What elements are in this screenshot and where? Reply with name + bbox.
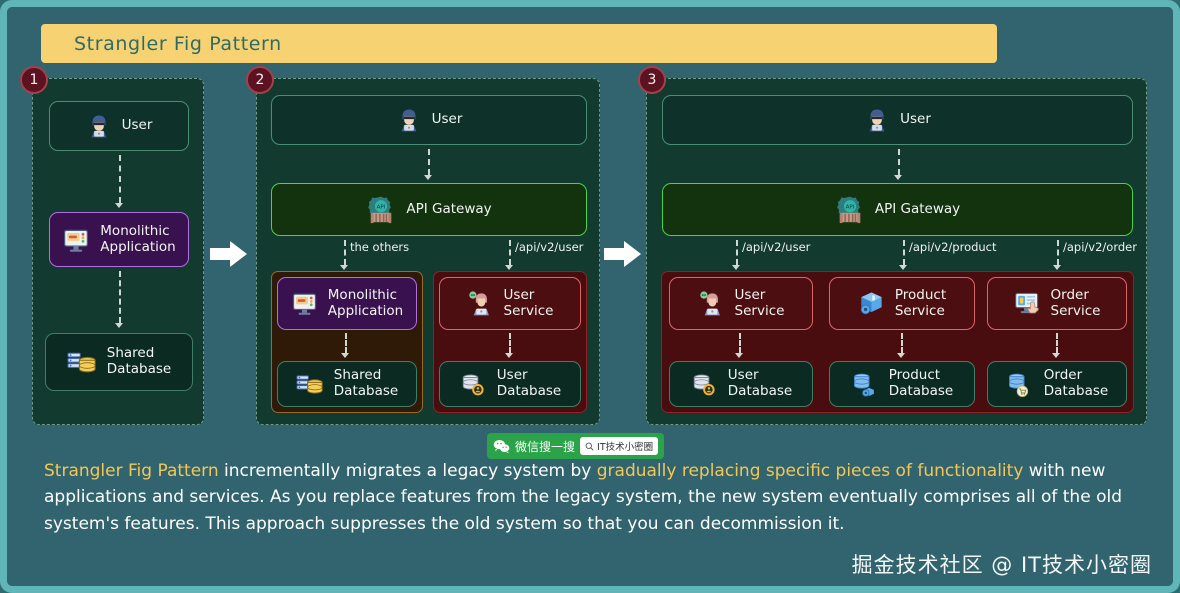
connector-arrowhead — [732, 265, 740, 270]
connector-arrowhead — [899, 265, 907, 270]
user-service-icon — [467, 290, 494, 317]
connector-arrowhead — [1053, 265, 1061, 270]
desc-plain-1: incrementally migrates a legacy system b… — [219, 461, 597, 481]
connector-arrowhead — [505, 353, 513, 358]
connector-user-to-monolith-1 — [119, 155, 121, 203]
connector-arrowhead — [894, 175, 902, 180]
node-label: User Database — [497, 368, 561, 400]
route-label-product: /api/v2/product — [909, 240, 997, 254]
node-user-service-2[interactable]: User Service — [439, 277, 581, 330]
connector-gateway-to-product-service-3 — [903, 240, 905, 265]
step-badge-3: 3 — [638, 66, 666, 94]
route-label-others: the others — [350, 240, 409, 254]
wechat-label: 微信搜一搜 — [515, 438, 575, 455]
node-user-1[interactable]: User — [49, 101, 189, 151]
node-label: User — [900, 112, 931, 128]
diagram-root: Strangler Fig Pattern 1 User — [0, 0, 1180, 593]
product-database-icon — [851, 371, 879, 397]
wechat-icon — [493, 439, 510, 454]
connector-arrowhead — [505, 265, 513, 270]
node-label: User — [432, 112, 463, 128]
user-icon — [396, 107, 422, 133]
node-product-service-3[interactable]: Product Service — [829, 277, 975, 330]
connector-user-to-gateway-3 — [898, 149, 900, 175]
node-label: Monolithic Application — [100, 224, 175, 256]
route-label-user: /api/v2/user — [515, 240, 583, 254]
step-panel-1: User Monolithic Application — [32, 78, 204, 425]
database-icon — [296, 371, 324, 397]
node-shared-database-1[interactable]: Shared Database — [45, 333, 193, 391]
svg-text:API: API — [377, 204, 386, 210]
connector-arrowhead — [735, 353, 743, 358]
wechat-query: IT技术小密圈 — [597, 439, 653, 453]
connector-arrowhead — [424, 175, 432, 180]
api-gateway-icon: API — [835, 195, 865, 225]
node-label: User Service — [504, 288, 554, 320]
node-user-2[interactable]: User — [271, 95, 587, 145]
node-product-database-3[interactable]: Product Database — [829, 361, 975, 407]
connector-user-to-gateway-2 — [428, 149, 430, 175]
title-banner: Strangler Fig Pattern — [41, 24, 997, 63]
node-label: Product Database — [889, 368, 953, 400]
user-icon — [864, 107, 890, 133]
node-user-database-3[interactable]: User Database — [669, 361, 813, 407]
watermark: 掘金技术社区 @ IT技术小密圈 — [852, 549, 1152, 579]
connector-arrowhead — [1052, 353, 1060, 358]
node-label: Order Service — [1051, 288, 1101, 320]
user-database-icon — [459, 371, 487, 397]
step-arrow-1-to-2 — [210, 239, 248, 269]
node-label: User Service — [735, 288, 785, 320]
product-service-icon — [858, 290, 885, 317]
connector-monolith-to-db-1 — [119, 271, 121, 323]
desc-highlight-2: gradually replacing specific pieces of f… — [597, 461, 1024, 481]
svg-text:API: API — [845, 204, 854, 210]
connector-arrowhead — [115, 323, 123, 328]
order-database-icon — [1006, 371, 1034, 397]
node-label: Product Service — [895, 288, 946, 320]
wechat-search-badge[interactable]: 微信搜一搜 IT技术小密圈 — [487, 433, 664, 459]
api-gateway-icon: API — [366, 195, 396, 225]
connector-arrowhead — [115, 203, 123, 208]
node-user-service-3[interactable]: User Service — [669, 277, 813, 330]
wechat-search-box[interactable]: IT技术小密圈 — [580, 437, 658, 455]
route-label-user: /api/v2/user — [742, 240, 810, 254]
connector-product-service-to-db-3 — [901, 333, 903, 353]
connector-gateway-to-user-service-2 — [509, 240, 511, 265]
step-panel-3: User API API Gateway /api/v2/user — [646, 78, 1147, 425]
node-monolithic-application-2[interactable]: Monolithic Application — [277, 277, 417, 330]
description-text: Strangler Fig Pattern incrementally migr… — [44, 458, 1134, 537]
connector-gateway-to-user-service-3 — [736, 240, 738, 265]
user-icon — [86, 113, 112, 139]
node-label: Monolithic Application — [328, 288, 403, 320]
node-order-service-3[interactable]: Order Service — [987, 277, 1127, 330]
connector-user-service-to-db-2 — [509, 333, 511, 353]
node-api-gateway-2[interactable]: API API Gateway — [271, 183, 587, 236]
node-monolithic-application-1[interactable]: Monolithic Application — [49, 212, 189, 267]
node-user-database-2[interactable]: User Database — [439, 361, 581, 407]
user-database-icon — [690, 371, 718, 397]
connector-arrowhead — [341, 353, 349, 358]
connector-gateway-to-monolith-2 — [344, 240, 346, 265]
node-order-database-3[interactable]: Order Database — [987, 361, 1127, 407]
step-badge-1: 1 — [20, 66, 48, 94]
node-label: API Gateway — [875, 202, 960, 218]
monolith-icon — [62, 226, 90, 254]
user-service-icon — [698, 290, 725, 317]
node-label: API Gateway — [406, 202, 491, 218]
desc-highlight-1: Strangler Fig Pattern — [44, 461, 219, 481]
node-label: Shared Database — [107, 346, 171, 378]
node-api-gateway-3[interactable]: API API Gateway — [662, 183, 1133, 236]
step-arrow-2-to-3 — [604, 239, 642, 269]
page-title: Strangler Fig Pattern — [74, 33, 282, 55]
route-label-order: /api/v2/order — [1063, 240, 1137, 254]
step-panel-2: User API API Gateway the others — [256, 78, 600, 425]
connector-arrowhead — [897, 353, 905, 358]
connector-gateway-to-order-service-3 — [1057, 240, 1059, 265]
node-label: User — [122, 118, 153, 134]
connector-monolith-to-shared-db-2 — [345, 333, 347, 353]
node-label: Order Database — [1044, 368, 1108, 400]
step-badge-2: 2 — [246, 66, 274, 94]
monolith-icon — [291, 290, 318, 317]
node-user-3[interactable]: User — [662, 95, 1133, 145]
node-label: User Database — [728, 368, 792, 400]
connector-arrowhead — [340, 265, 348, 270]
connector-user-service-to-db-3 — [739, 333, 741, 353]
node-label: Shared Database — [334, 368, 398, 400]
order-service-icon — [1014, 290, 1041, 317]
database-icon — [67, 348, 97, 376]
node-shared-database-2[interactable]: Shared Database — [277, 361, 417, 407]
search-icon — [585, 442, 594, 451]
connector-order-service-to-db-3 — [1056, 333, 1058, 353]
